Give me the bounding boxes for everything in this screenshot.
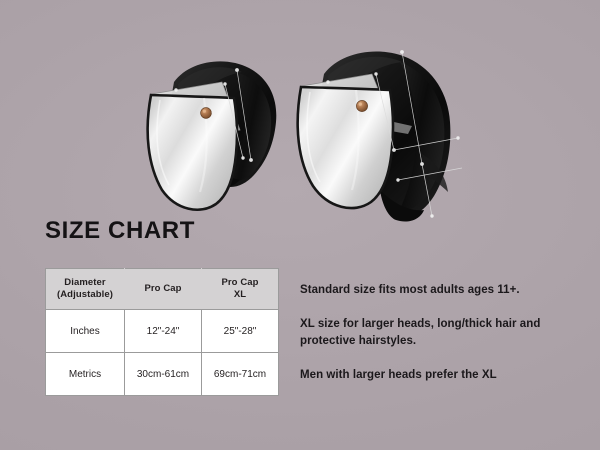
pro-cap-xl-face-shield (298, 87, 393, 208)
column-header-pro-cap-xl-line2: XL (202, 289, 278, 301)
pro-cap-face-shield (148, 95, 237, 210)
column-header-pro-cap-xl-line1: Pro Cap (202, 277, 278, 289)
page-title: SIZE CHART (45, 219, 195, 243)
column-header-pro-cap-xl: Pro Cap XL (202, 269, 279, 310)
product-image-pro-cap-xl (272, 34, 464, 226)
cell-inches-pro-cap: 12"-24" (125, 310, 202, 353)
product-image-pro-cap (118, 38, 288, 213)
pro-cap-xl-rivet (356, 100, 367, 111)
note-standard-size: Standard size fits most adults ages 11+. (300, 282, 568, 298)
table-row: Inches 12"-24" 25"-28" (46, 310, 279, 353)
cell-inches-pro-cap-xl: 25"-28" (202, 310, 279, 353)
size-chart-page: SIZE CHART Diameter (Adjustable) Pro Cap… (0, 0, 600, 450)
column-header-pro-cap: Pro Cap (125, 269, 202, 310)
column-header-diameter-line2: (Adjustable) (46, 289, 124, 301)
cell-metrics-pro-cap-xl: 69cm-71cm (202, 353, 279, 396)
column-header-diameter: Diameter (Adjustable) (46, 269, 125, 310)
row-label-inches: Inches (46, 310, 125, 353)
table-row: Metrics 30cm-61cm 69cm-71cm (46, 353, 279, 396)
row-label-metrics: Metrics (46, 353, 125, 396)
column-header-pro-cap-line1: Pro Cap (125, 283, 201, 295)
sizing-notes: Standard size fits most adults ages 11+.… (300, 282, 568, 383)
column-header-diameter-line1: Diameter (46, 277, 124, 289)
note-xl-size: XL size for larger heads, long/thick hai… (300, 316, 568, 349)
note-men-larger-heads: Men with larger heads prefer the XL (300, 367, 568, 383)
size-chart-table: Diameter (Adjustable) Pro Cap Pro Cap XL… (45, 268, 279, 396)
pro-cap-rivet (201, 108, 212, 119)
table-header-row: Diameter (Adjustable) Pro Cap Pro Cap XL (46, 269, 279, 310)
cell-metrics-pro-cap: 30cm-61cm (125, 353, 202, 396)
